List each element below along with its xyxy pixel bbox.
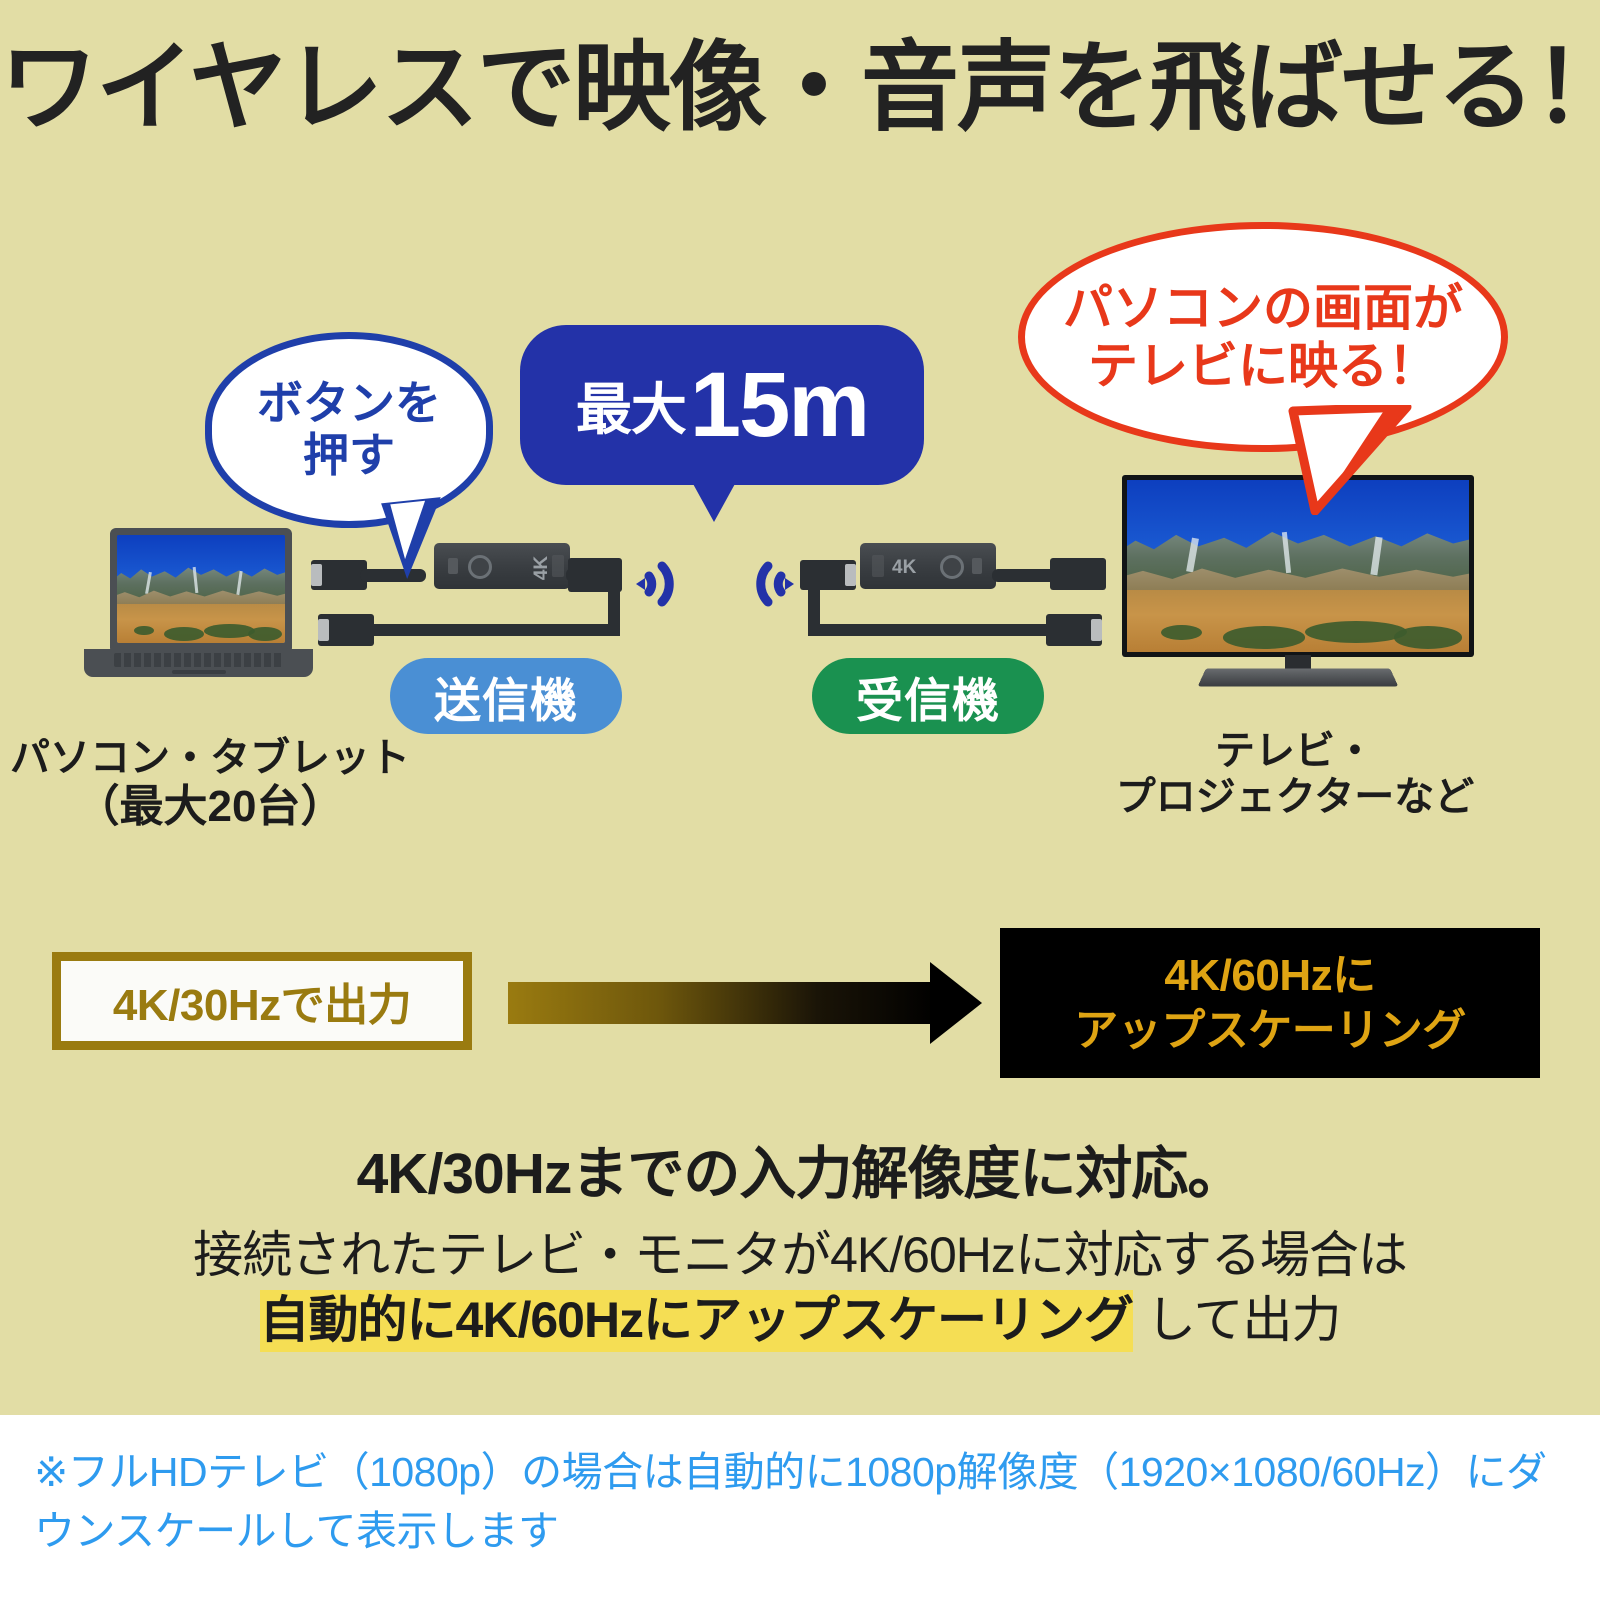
mountain-photo [117,535,285,643]
led-indicator-tx [448,558,458,574]
press-button-bubble: ボタンを 押す [205,332,493,528]
hdmi-tip-tx-left [311,564,322,586]
hdmi-tip-tx-bottom [318,619,329,641]
tv-mirror-bubble: パソコンの画面が テレビに映る！ [1018,222,1508,452]
input-resolution-box: 4K/30Hzで出力 [52,952,472,1050]
right-caption-line1: テレビ・ [1050,728,1540,774]
dongle-4k-mark-tx: 4K [531,556,553,580]
led-strip-rx [872,555,884,577]
hdmi-plug-rx-right [1050,558,1106,590]
output-box-line1: 4K/60Hzに [1164,948,1375,1003]
left-caption-line1: パソコン・タブレット [10,735,410,781]
body-line-3-tail: して出力 [1133,1292,1340,1348]
dongle-4k-mark-rx: 4K [892,557,916,579]
laptop-keyboard [114,653,284,667]
body-line-3-highlight: 自動的に4K/60Hzにアップスケーリング [260,1290,1134,1352]
output-resolution-box: 4K/60Hzに アップスケーリング [1000,928,1540,1078]
press-button-line1: ボタンを [257,378,441,430]
cable-rx-bend-h [812,624,1058,636]
tv-mirror-bubble-tail [1285,405,1415,515]
distance-bubble: 最大 15m [520,325,924,485]
led-indicator-rx [972,558,982,574]
tv-mirror-line2: テレビに映る！ [1088,337,1438,395]
laptop-screen [117,535,285,643]
body-line-2: 接続されたテレビ・モニタが4K/60Hzに対応する場合は [0,1215,1600,1287]
output-box-line2: アップスケーリング [1074,1003,1466,1058]
left-caption-line2: （最大20台） [10,781,410,832]
hdmi-tip-rx-left [845,564,856,586]
distance-prefix: 最大 [576,365,686,446]
page-title: ワイヤレスで映像・音声を飛ばせる！ [0,34,1600,142]
laptop-base [84,649,313,677]
distance-value: 15m [690,353,868,458]
receiver-dongle: 4K [860,543,996,589]
footer-panel: ※フルHDテレビ（1080p）の場合は自動的に1080p解像度（1920×108… [0,1415,1600,1600]
left-device-caption: パソコン・タブレット （最大20台） [10,735,410,832]
footer-note: ※フルHDテレビ（1080p）の場合は自動的に1080p解像度（1920×108… [34,1443,1574,1562]
pair-button-rx[interactable] [940,555,964,579]
led-strip-tx [552,555,564,577]
press-button-line2: 押す [303,430,395,482]
tv-stand [1198,668,1399,686]
receiver-label-pill: 受信機 [812,658,1044,734]
upscale-arrow-shaft [508,982,938,1024]
press-button-bubble-tail [381,497,449,581]
cable-tx-bend-h [352,624,620,636]
transmitter-dongle: 4K [434,543,570,589]
laptop-illustration [78,528,313,676]
upscale-arrow-head [930,962,982,1044]
body-line-3: 自動的に4K/60Hzにアップスケーリング して出力 [0,1280,1600,1352]
infographic-root: ワイヤレスで映像・音声を飛ばせる！ [0,0,1600,1600]
pair-button-tx[interactable] [468,555,492,579]
wifi-signal-left-icon [632,546,708,622]
wifi-signal-right-icon [722,546,798,622]
body-heading: 4K/30Hzまでの入力解像度に対応。 [0,1128,1600,1210]
laptop-lid [110,528,292,650]
right-caption-line2: プロジェクターなど [1050,774,1540,820]
right-device-caption: テレビ・ プロジェクターなど [1050,728,1540,821]
cable-rx-short [992,569,1058,582]
distance-bubble-tail [692,482,736,522]
hdmi-tip-rx-bottom [1091,619,1102,641]
tv-mirror-line1: パソコンの画面が [1063,279,1463,337]
transmitter-label-pill: 送信機 [390,658,622,734]
